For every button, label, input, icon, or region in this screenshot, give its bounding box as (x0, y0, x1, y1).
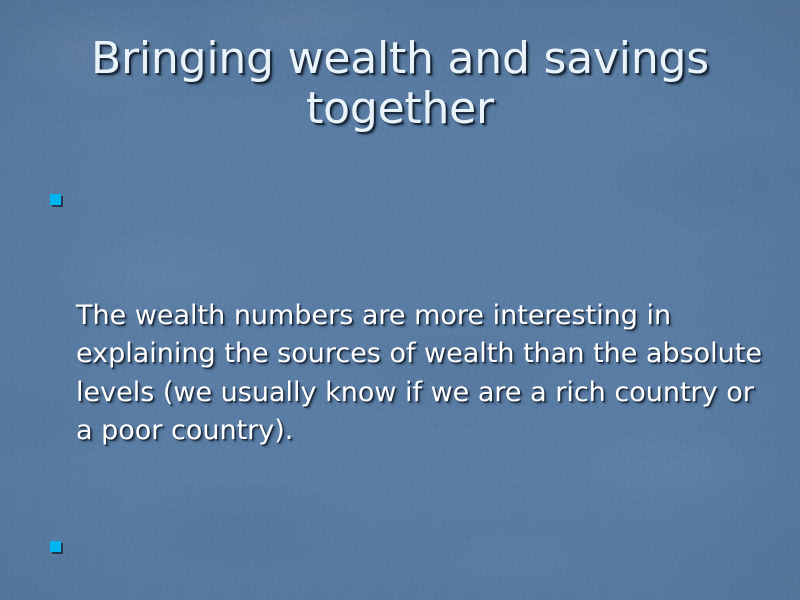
bullet-list-item: The wealth numbers are more interesting … (46, 181, 762, 528)
slide-body-bullet-list: The wealth numbers are more interesting … (46, 181, 762, 600)
square-bullet-icon (50, 541, 61, 552)
slide-title: Bringing wealth and savings together (40, 34, 760, 134)
slide-content: Bringing wealth and savings together The… (0, 0, 800, 600)
square-bullet-icon (50, 194, 61, 205)
presentation-slide: Bringing wealth and savings together The… (0, 0, 800, 600)
bullet-item-text: The wealth numbers are more interesting … (76, 297, 762, 451)
bullet-list-item: In contrast, the savings numbers (e.g. g… (46, 528, 762, 600)
